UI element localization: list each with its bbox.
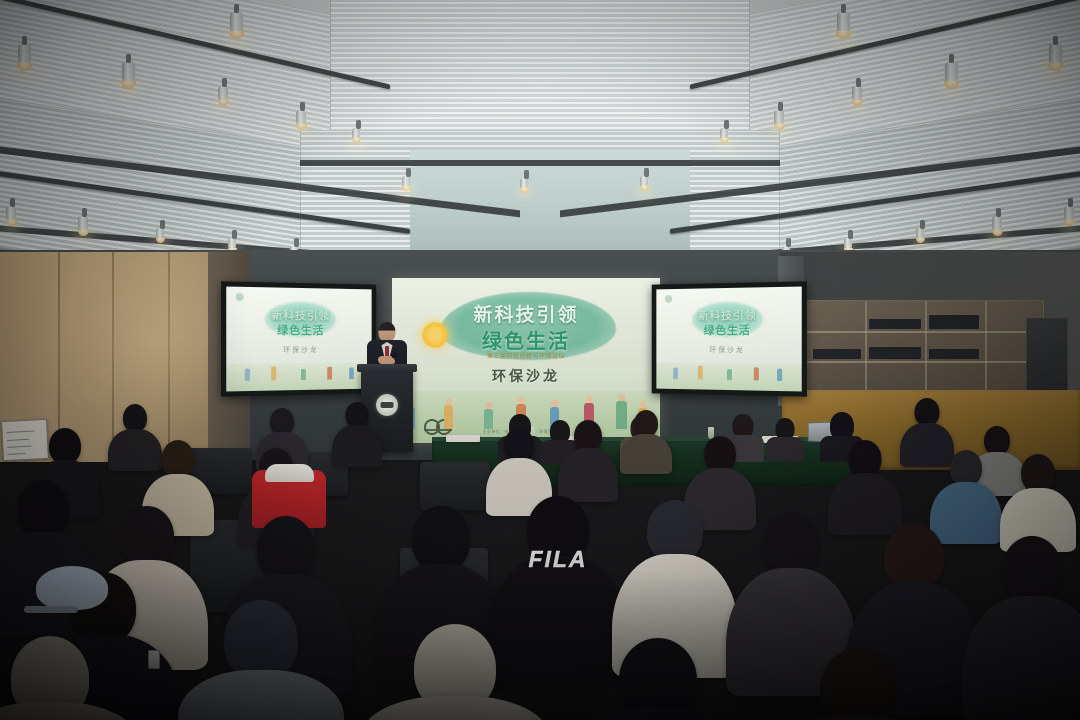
screen-logo-icon [665, 295, 672, 303]
fila-logo-text: FILA [528, 546, 587, 573]
track-light-icon [720, 128, 728, 140]
track-light-icon [228, 238, 236, 250]
banner-subtitle: 第三届科技创新与环保论坛 [392, 351, 660, 360]
audience-member [360, 624, 550, 720]
audience-member [0, 636, 140, 720]
conference-photo: 新科技引领 绿色生活 第三届科技创新与环保论坛 环保沙龙 主办单位：市科学技术协… [0, 0, 1080, 720]
track-light-icon [18, 44, 31, 66]
chair-back [420, 462, 490, 510]
track-light-icon [520, 178, 528, 190]
screen-logo-icon [235, 293, 243, 301]
banner-figure [444, 405, 453, 429]
podium-top [357, 364, 417, 372]
banner-event-name: 环保沙龙 [392, 366, 660, 386]
baseball-cap-icon [36, 566, 108, 610]
banner-headline-line2: 绿色生活 [392, 325, 660, 354]
track-light-icon [122, 62, 135, 84]
track-light-icon [1064, 206, 1074, 222]
audience-member [568, 638, 748, 720]
left-projection-screen: 新科技引领 绿色生活 环保沙龙 [221, 281, 376, 396]
audience-member [332, 402, 382, 464]
partition-seam [168, 252, 170, 462]
track-light-icon [774, 110, 784, 126]
shelf-item [813, 349, 861, 359]
panelist [766, 418, 804, 454]
track-light-icon [844, 238, 852, 250]
track-light-icon [352, 128, 360, 140]
shelf-item [929, 315, 979, 329]
right-screen-line2: 绿色生活 [656, 321, 801, 338]
track-light-icon [402, 176, 410, 188]
tall-cabinet [1026, 318, 1068, 400]
track-light-icon [852, 86, 862, 102]
left-screen-line2: 绿色生活 [226, 321, 371, 338]
audience-member [770, 648, 946, 720]
track-light-icon [1049, 44, 1062, 66]
right-screen-caption: 环保沙龙 [656, 345, 801, 356]
track-light-icon [296, 110, 306, 126]
audience-member [558, 420, 618, 500]
track-light-icon [640, 176, 648, 188]
track-light-icon [837, 12, 850, 34]
smartphone-icon [148, 650, 160, 669]
track-light-icon [6, 206, 16, 222]
audience-member [620, 410, 672, 472]
shelf-item [869, 319, 921, 329]
ceiling [0, 0, 1080, 262]
audience-member [962, 536, 1080, 720]
table-paper [446, 435, 480, 442]
track-light-icon [218, 86, 228, 102]
ceiling-seam [300, 160, 780, 166]
audience-member [178, 600, 344, 720]
shelf-item [869, 347, 921, 359]
shelf-item [929, 349, 979, 359]
left-screen-caption: 环保沙龙 [226, 345, 371, 356]
banner-figure [484, 409, 493, 429]
speaker-head [379, 322, 396, 342]
track-light-icon [945, 62, 958, 84]
jacket-hood [265, 464, 314, 482]
storage-shelving [806, 300, 1044, 392]
track-light-icon [916, 228, 924, 240]
banner-headline-line1: 新科技引领 [392, 300, 660, 327]
track-light-icon [992, 216, 1002, 232]
track-light-icon [230, 12, 243, 34]
track-light-icon [78, 216, 88, 232]
right-projection-screen: 新科技引领 绿色生活 环保沙龙 [652, 281, 807, 396]
track-light-icon [156, 228, 164, 240]
